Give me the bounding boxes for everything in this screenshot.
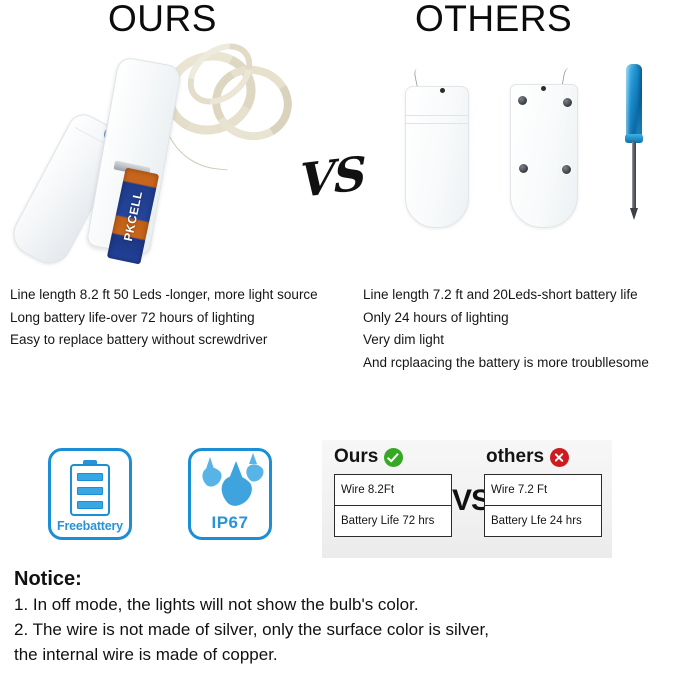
battery-level-bar <box>77 473 103 481</box>
case-hole-icon <box>541 86 546 91</box>
badge-freebattery: Freebattery <box>48 448 132 540</box>
feature-item: And rcplaacing the battery is more troub… <box>363 352 679 375</box>
water-drops-icon <box>191 459 269 517</box>
screwdriver-icon <box>621 64 647 224</box>
compare-label-ours: Ours <box>334 446 378 468</box>
water-drop-tip <box>249 453 257 464</box>
product-photo-strip: PKCELL VS <box>0 42 679 272</box>
notice-block: Notice: 1. In off mode, the lights will … <box>14 566 664 667</box>
feature-item: Only 24 hours of lighting <box>363 307 679 330</box>
battery-level-bar <box>77 487 103 495</box>
screw-icon <box>519 164 528 173</box>
battery-level-bar <box>77 501 103 509</box>
feature-item: Line length 8.2 ft 50 Leds -longer, more… <box>10 284 355 307</box>
certification-badges: Freebattery IP67 <box>0 440 310 560</box>
water-drop-tip <box>206 457 214 469</box>
screwdriver-shaft <box>632 142 636 210</box>
others-product-photo <box>395 42 670 272</box>
comparison-headers: OURS OTHERS <box>0 0 679 42</box>
screw-icon <box>563 98 572 107</box>
feature-item: Line length 7.2 ft and 20Leds-short batt… <box>363 284 679 307</box>
cross-icon <box>550 448 569 467</box>
spec-row: Battery Life 72 hrs <box>335 505 451 536</box>
vs-script-label: VS <box>300 146 365 208</box>
battery-icon <box>70 460 110 516</box>
header-others: OTHERS <box>415 0 572 39</box>
notice-item: 2. The wire is not made of silver, only … <box>14 617 664 642</box>
compare-heading-others: others <box>486 446 569 468</box>
feature-item: Easy to replace battery without screwdri… <box>10 329 355 352</box>
spec-comparison-panel: Ours others Wire 8.2Ft Battery Life 72 h… <box>322 440 612 558</box>
water-drop-tip <box>229 461 243 479</box>
compare-heading-ours: Ours <box>334 446 403 468</box>
compare-label-others: others <box>486 446 544 468</box>
battery-body <box>70 464 110 516</box>
screw-icon <box>518 96 527 105</box>
feature-item: Long battery life-over 72 hours of light… <box>10 307 355 330</box>
spec-table-others: Wire 7.2 Ft Battery Lfe 24 hrs <box>484 474 602 537</box>
spec-table-ours: Wire 8.2Ft Battery Life 72 hrs <box>334 474 452 537</box>
battery-case-plain <box>405 86 469 228</box>
silver-wire-coil-icon <box>158 48 298 158</box>
notice-title: Notice: <box>14 566 664 592</box>
notice-item: 1. In off mode, the lights will not show… <box>14 592 664 617</box>
badge-caption: Freebattery <box>51 519 129 533</box>
check-icon <box>384 448 403 467</box>
screw-icon <box>562 165 571 174</box>
battery-brand-label: PKCELL <box>121 190 145 243</box>
badge-caption: IP67 <box>191 513 269 533</box>
ours-product-photo: PKCELL <box>30 42 310 272</box>
screwdriver-tip <box>630 208 638 220</box>
notice-item: the internal wire is made of copper. <box>14 642 664 667</box>
screwdriver-handle <box>626 64 642 138</box>
spec-row: Wire 8.2Ft <box>335 475 451 505</box>
header-ours: OURS <box>108 0 217 39</box>
ours-feature-list: Line length 8.2 ft 50 Leds -longer, more… <box>10 284 355 352</box>
others-feature-list: Line length 7.2 ft and 20Leds-short batt… <box>363 284 679 374</box>
feature-item: Very dim light <box>363 329 679 352</box>
spec-row: Battery Lfe 24 hrs <box>485 505 601 536</box>
case-hole-icon <box>440 88 445 93</box>
spec-row: Wire 7.2 Ft <box>485 475 601 505</box>
badge-ip67: IP67 <box>188 448 272 540</box>
